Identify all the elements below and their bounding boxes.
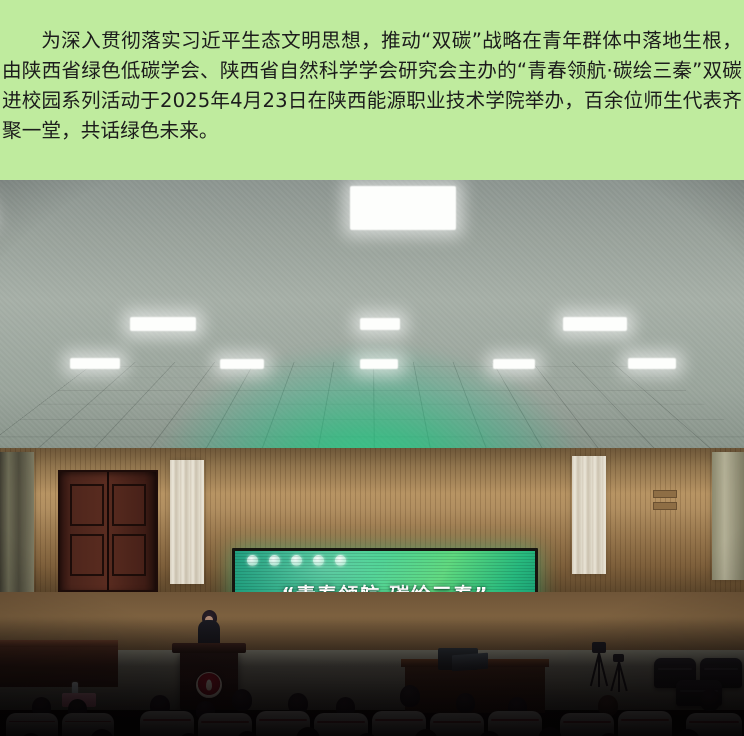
ceiling-light bbox=[360, 318, 400, 330]
door-panel bbox=[112, 484, 146, 526]
curtain-center bbox=[170, 460, 204, 584]
ceiling-light bbox=[350, 186, 456, 230]
article-paragraph: 为深入贯彻落实习近平生态文明思想，推动“双碳”战略在青年群体中落地生根，由陕西省… bbox=[2, 26, 742, 146]
ceiling-light bbox=[360, 359, 398, 369]
door-panel bbox=[112, 534, 146, 576]
ceiling-light bbox=[493, 359, 535, 369]
ceiling-light bbox=[628, 358, 676, 369]
curtain-right bbox=[572, 456, 606, 574]
ceiling bbox=[0, 180, 744, 480]
ceiling-light bbox=[70, 358, 120, 369]
curtain-left bbox=[0, 452, 34, 592]
ceiling-light bbox=[563, 317, 627, 331]
hall-door bbox=[58, 470, 158, 592]
conference-hall-photo: “青春领航·碳绘三秦” 双碳进校园 陕西能源职业技术学院专场 主办单位： 陕西省… bbox=[0, 180, 744, 736]
wall-vent-icon bbox=[653, 490, 677, 498]
ceiling-green-glow bbox=[90, 200, 650, 480]
door-split-line bbox=[107, 472, 109, 590]
foreground-shadow bbox=[0, 616, 744, 736]
ceiling-light bbox=[130, 317, 196, 331]
ceiling-light bbox=[220, 359, 264, 369]
article-text-block: 为深入贯彻落实习近平生态文明思想，推动“双碳”战略在青年群体中落地生根，由陕西省… bbox=[0, 0, 744, 180]
page-root: 为深入贯彻落实习近平生态文明思想，推动“双碳”战略在青年群体中落地生根，由陕西省… bbox=[0, 0, 744, 736]
wall-vent-icon bbox=[653, 502, 677, 510]
curtain-far-right bbox=[712, 452, 744, 580]
